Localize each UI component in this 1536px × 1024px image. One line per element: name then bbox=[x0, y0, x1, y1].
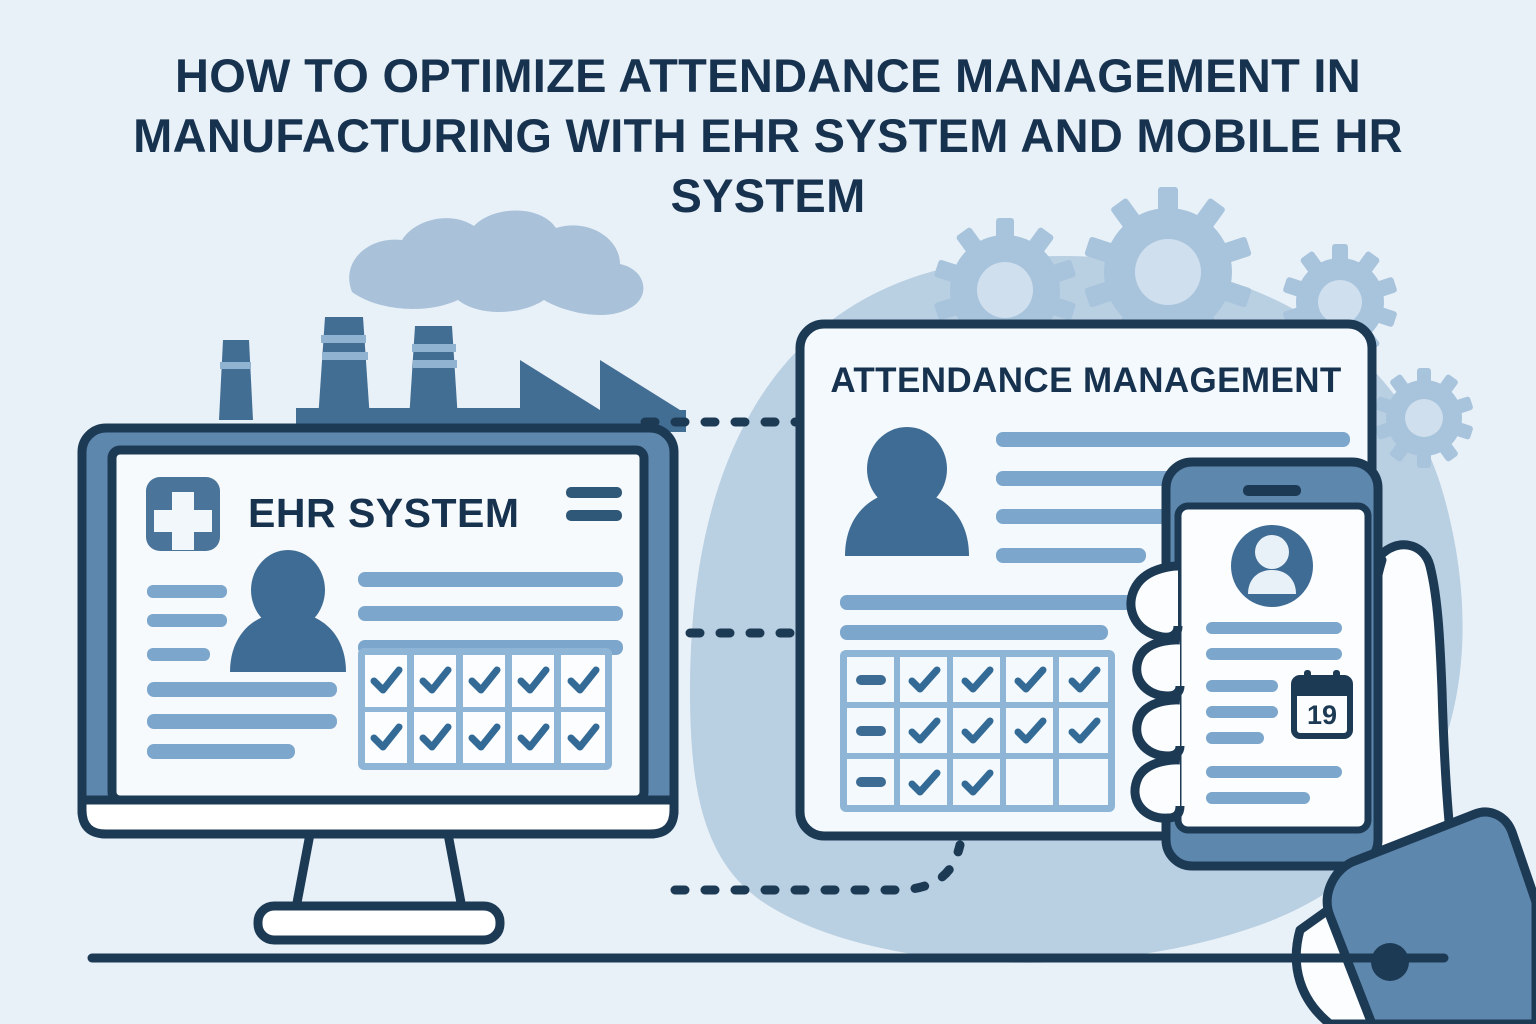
ehr-title: EHR SYSTEM bbox=[248, 490, 520, 536]
phone-person-avatar bbox=[1231, 525, 1313, 607]
calendar-day: 19 bbox=[1307, 700, 1337, 730]
finger-2 bbox=[1137, 640, 1180, 696]
tablet-title: ATTENDANCE MANAGEMENT bbox=[830, 361, 1341, 400]
speaker-slot bbox=[1243, 485, 1301, 496]
medical-cross-icon bbox=[146, 477, 220, 551]
infographic-canvas: EHR SYSTEM bbox=[0, 0, 1536, 1024]
finger-4 bbox=[1135, 760, 1180, 818]
finger-1 bbox=[1131, 566, 1178, 637]
ehr-monitor[interactable]: EHR SYSTEM bbox=[82, 428, 674, 940]
tablet-attendance-grid[interactable] bbox=[840, 650, 1115, 812]
finger-3 bbox=[1137, 700, 1180, 756]
mobile-hr-phone[interactable]: 19 bbox=[1166, 462, 1378, 866]
ehr-right-lines bbox=[358, 572, 623, 655]
factory-silhouette bbox=[219, 317, 686, 432]
smoke-cloud bbox=[349, 211, 643, 316]
ehr-attendance-grid[interactable] bbox=[358, 648, 612, 770]
illustration-scene: EHR SYSTEM bbox=[0, 0, 1536, 1024]
calendar-icon[interactable]: 19 bbox=[1294, 670, 1350, 736]
